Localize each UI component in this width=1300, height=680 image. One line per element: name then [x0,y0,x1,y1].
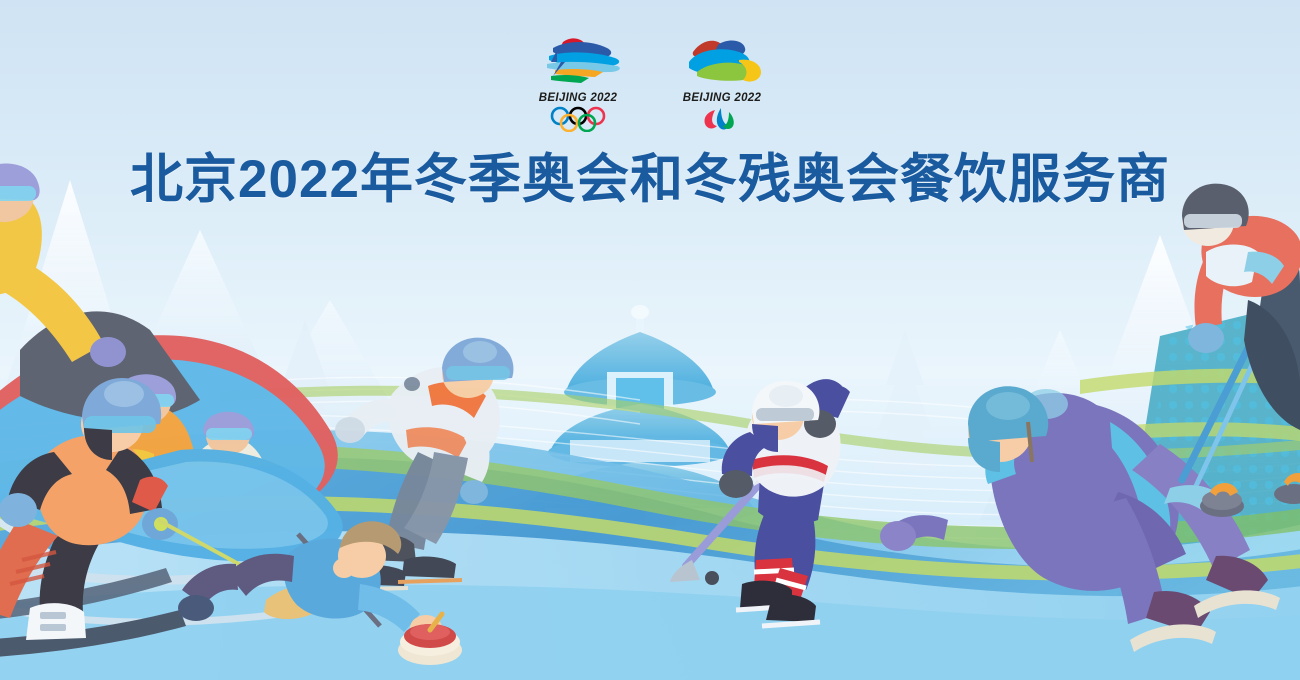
agitos-icon [667,106,777,132]
paralympic-emblem-mark [667,32,777,90]
paralympic-logo: BEIJING 2022 [667,32,777,136]
paralympic-wordmark: BEIJING 2022 [667,92,777,104]
olympic-emblem-mark [523,32,633,90]
athlete-ice-hockey-player [670,379,850,626]
athlete-speed-skater [880,386,1280,652]
page-title: 北京2022年冬季奥会和冬残奥会餐饮服务商 [0,148,1300,212]
olympic-wordmark: BEIJING 2022 [523,92,633,104]
logos-container: BEIJING 2022 BEIJING 2022 [0,32,1300,136]
olympic-rings-icon [523,106,633,132]
curling-stone [1274,473,1300,504]
beijing-2022-banner: BEIJING 2022 BEIJING 2022 [0,0,1300,680]
olympic-logo: BEIJING 2022 [523,32,633,136]
